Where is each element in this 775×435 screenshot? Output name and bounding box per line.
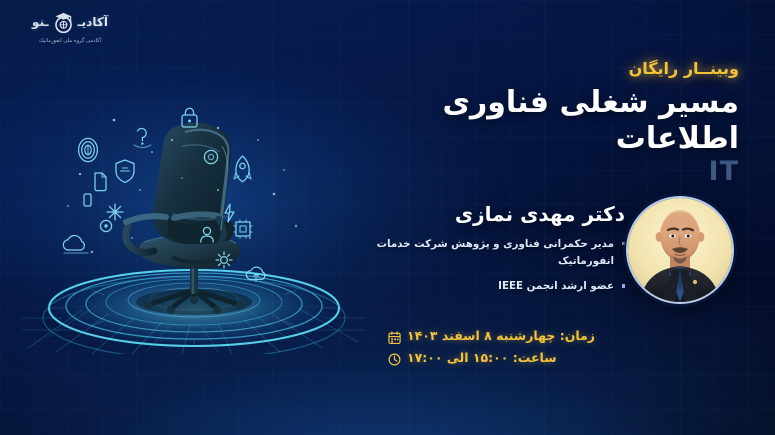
avatar: [626, 196, 734, 304]
schedule-time-text: ساعت: ۱۵:۰۰ الی ۱۷:۰۰: [407, 350, 557, 365]
brand-tagline: آکادمی گروه ملی انفورماتیک: [14, 38, 126, 44]
speaker-name: دکتر مهدی نمازی: [325, 202, 625, 226]
clock-icon: [388, 351, 401, 364]
calendar-icon: [388, 329, 401, 342]
brand-logo: آکادیـ ـنو آکادمی گروه ملی انفورماتیک: [14, 7, 126, 51]
fingerprint-icon: [79, 138, 98, 161]
page-title: مسیر شغلی فناوری اطلاعات: [309, 85, 739, 158]
schedule-row-time: ساعت: ۱۵:۰۰ الی ۱۷:۰۰: [388, 350, 595, 365]
sparkle-icon: [107, 204, 123, 220]
logo-word-right: آکادیـ: [78, 15, 108, 29]
graduation-cap-gear-icon: [51, 10, 76, 35]
list-item: عضو ارشد انجمن IEEE: [325, 278, 625, 295]
webinar-poster: آکادیـ ـنو آکادمی گروه ملی انفورماتیک وب…: [0, 0, 775, 435]
speaker-block: دکتر مهدی نمازی مدیر حکمرانی فناوری و پژ…: [325, 202, 625, 311]
logo-word-left: ـنو: [32, 15, 49, 29]
schedule-block: زمان: چهارشنبه ۸ اسفند ۱۴۰۳ ساعت: ۱۵:۰۰ …: [388, 328, 595, 372]
kicker-free-webinar: وبینــار رایگان: [309, 60, 739, 78]
schedule-row-date: زمان: چهارشنبه ۸ اسفند ۱۴۰۳: [388, 328, 595, 343]
headline-block: وبینــار رایگان مسیر شغلی فناوری اطلاعات…: [309, 60, 739, 187]
schedule-date-text: زمان: چهارشنبه ۸ اسفند ۱۴۰۳: [407, 328, 595, 343]
title-subtitle-it: IT: [309, 156, 739, 187]
speaker-credentials-list: مدیر حکمرانی فناوری و پژوهش شرکت خدمات ا…: [325, 236, 625, 295]
list-item: مدیر حکمرانی فناوری و پژوهش شرکت خدمات ا…: [325, 236, 625, 269]
